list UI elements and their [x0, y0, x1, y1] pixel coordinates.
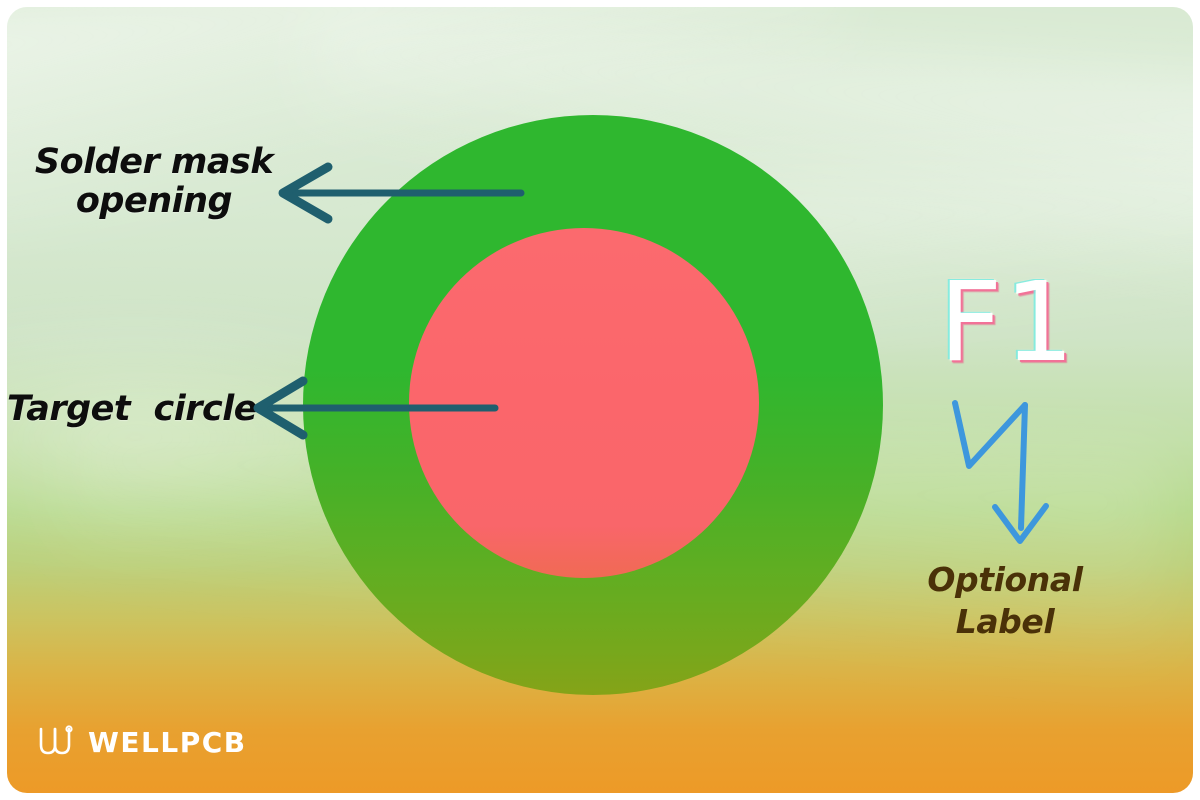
wellpcb-w-monogram-icon	[37, 725, 79, 759]
solder-mask-label-line2: opening	[25, 182, 283, 221]
diagram-card: Solder mask opening Target circle F1 Opt…	[7, 7, 1193, 793]
silkscreen-designator-f1: F1	[939, 267, 1076, 377]
solder-mask-opening-label: Solder mask opening	[25, 143, 283, 221]
target-circle-label: Target circle	[7, 390, 255, 429]
optional-label-caption: Optional Label	[905, 559, 1105, 643]
optional-label-line1: Optional	[905, 559, 1105, 601]
target-circle-shape	[409, 228, 759, 578]
screenshot-root: Solder mask opening Target circle F1 Opt…	[0, 0, 1200, 800]
wellpcb-watermark: WELLPCB	[37, 725, 247, 759]
wellpcb-brand-text: WELLPCB	[88, 726, 247, 759]
solder-mask-label-line1: Solder mask	[25, 143, 283, 182]
optional-label-line2: Label	[905, 601, 1105, 643]
optional-label-arrow	[955, 403, 1046, 541]
